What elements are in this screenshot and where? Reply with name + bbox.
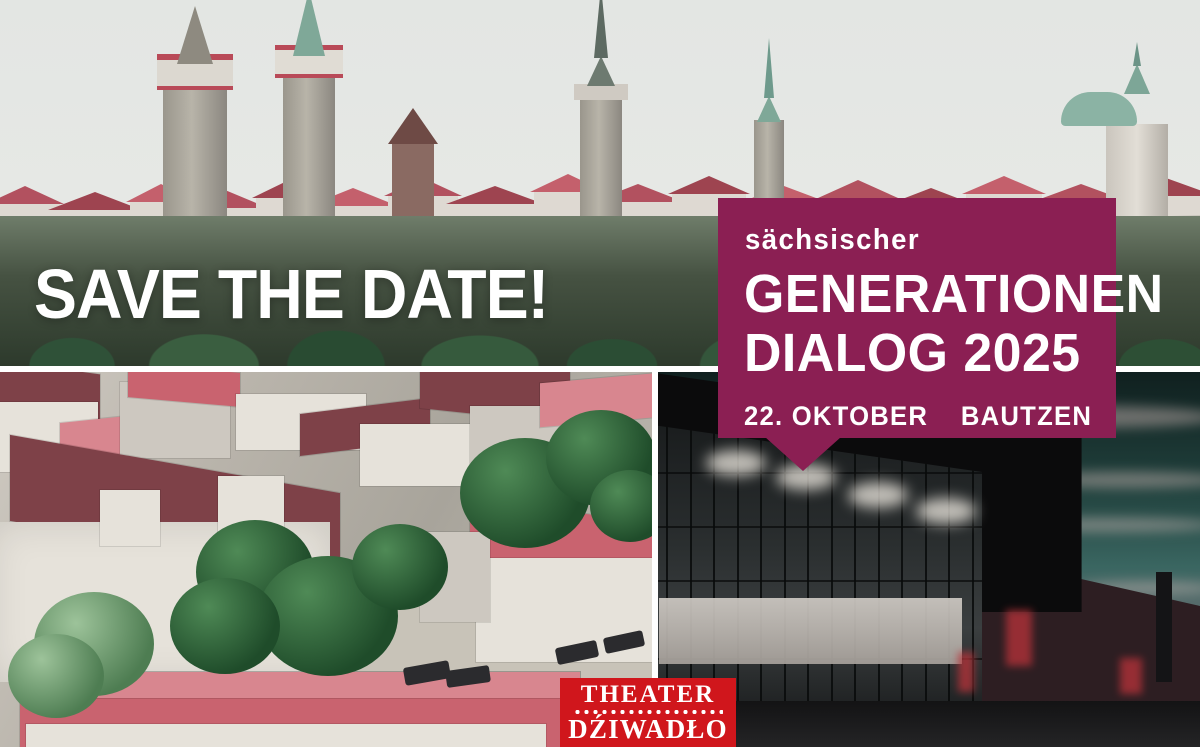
interior-relief-frieze (659, 598, 961, 664)
tree (170, 578, 280, 674)
gable (100, 490, 160, 546)
building-foreground (26, 724, 546, 747)
tower-small (392, 106, 434, 216)
logo-line-1: THEATER (581, 682, 715, 707)
photo-aerial-old-town (0, 372, 652, 747)
ceiling-light (916, 498, 976, 524)
banner-flag (1156, 572, 1172, 682)
entrance-red-light (1006, 610, 1032, 666)
event-title-line-1: GENERATIONEN (744, 267, 1080, 322)
event-subtitle: sächsischer (745, 224, 1077, 257)
event-meta-row: 22. OKTOBER BAUTZEN (744, 401, 1094, 432)
save-the-date-poster: SAVE THE DATE! sächsischer GENERATIONEN … (0, 0, 1200, 747)
entrance-red-light (1120, 658, 1142, 694)
tree (8, 634, 104, 718)
event-location: BAUTZEN (961, 401, 1092, 432)
tree (352, 524, 448, 610)
forecourt-ground (658, 701, 1200, 747)
event-title-line-2: DIALOG 2025 (744, 326, 1080, 381)
event-badge-pointer (765, 437, 841, 471)
page-title: SAVE THE DATE! (34, 262, 548, 326)
event-badge: sächsischer GENERATIONEN DIALOG 2025 22.… (718, 198, 1116, 438)
entrance-red-light (958, 652, 974, 692)
event-date: 22. OKTOBER (744, 401, 928, 432)
logo-line-2: DŹIWADŁO (568, 716, 728, 743)
theater-dziwadlo-logo: THEATER DŹIWADŁO (560, 678, 736, 747)
tower-slim-spire (754, 26, 784, 216)
tower-dom-st-petri (580, 0, 622, 246)
event-badge-content: sächsischer GENERATIONEN DIALOG 2025 22.… (744, 218, 1094, 420)
ceiling-light (848, 482, 908, 508)
ceiling-light (706, 450, 766, 476)
